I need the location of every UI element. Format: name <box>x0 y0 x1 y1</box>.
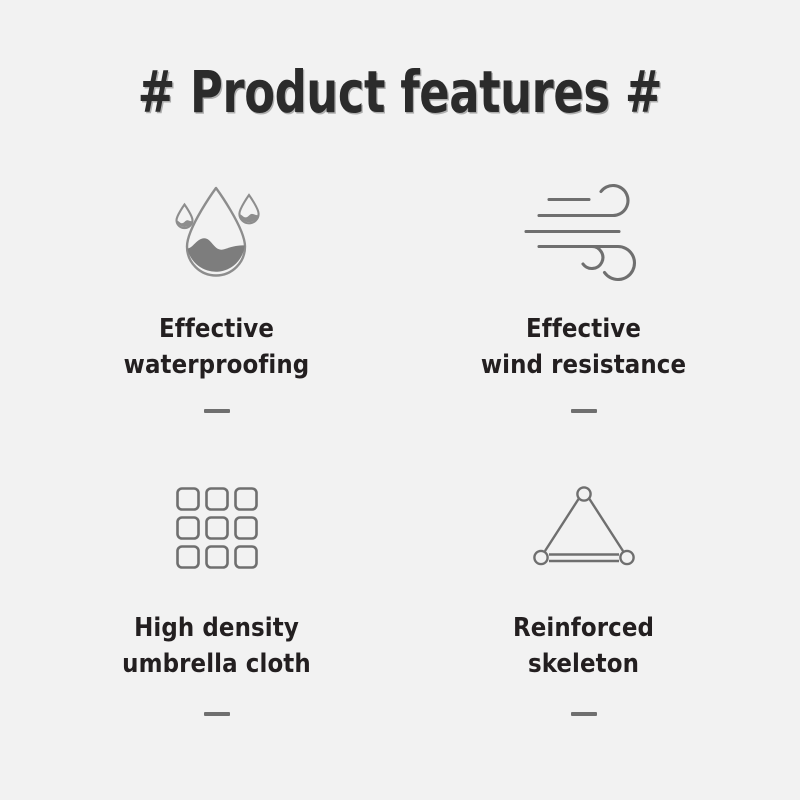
feature-card-waterproofing[interactable]: Effective waterproofing <box>33 175 400 472</box>
feature-divider <box>204 712 230 716</box>
features-grid: Effective waterproofing <box>33 175 767 769</box>
feature-label: Effective waterproofing <box>124 311 310 383</box>
feature-card-high-density-cloth[interactable]: High density umbrella cloth <box>33 472 400 769</box>
feature-icon-container <box>174 472 260 584</box>
feature-divider <box>571 712 597 716</box>
feature-icon-container <box>530 472 638 584</box>
page-title-container: # Product features # <box>0 62 800 123</box>
feature-card-reinforced-skeleton[interactable]: Reinforced skeleton <box>400 472 767 769</box>
feature-card-wind-resistance[interactable]: Effective wind resistance <box>400 175 767 472</box>
page-title: # Product features # <box>138 62 662 123</box>
feature-divider <box>204 409 230 413</box>
feature-icon-container <box>521 175 647 293</box>
wind-lines-icon <box>521 182 647 286</box>
feature-divider <box>571 409 597 413</box>
grid-3x3-icon <box>174 485 260 571</box>
feature-label: Reinforced skeleton <box>513 610 654 682</box>
feature-label: High density umbrella cloth <box>122 610 311 682</box>
feature-label: Effective wind resistance <box>481 311 686 383</box>
water-droplet-icon <box>163 182 271 286</box>
triangle-frame-icon <box>530 485 638 571</box>
feature-icon-container <box>163 175 271 293</box>
product-features-infographic: # Product features # <box>0 0 800 800</box>
